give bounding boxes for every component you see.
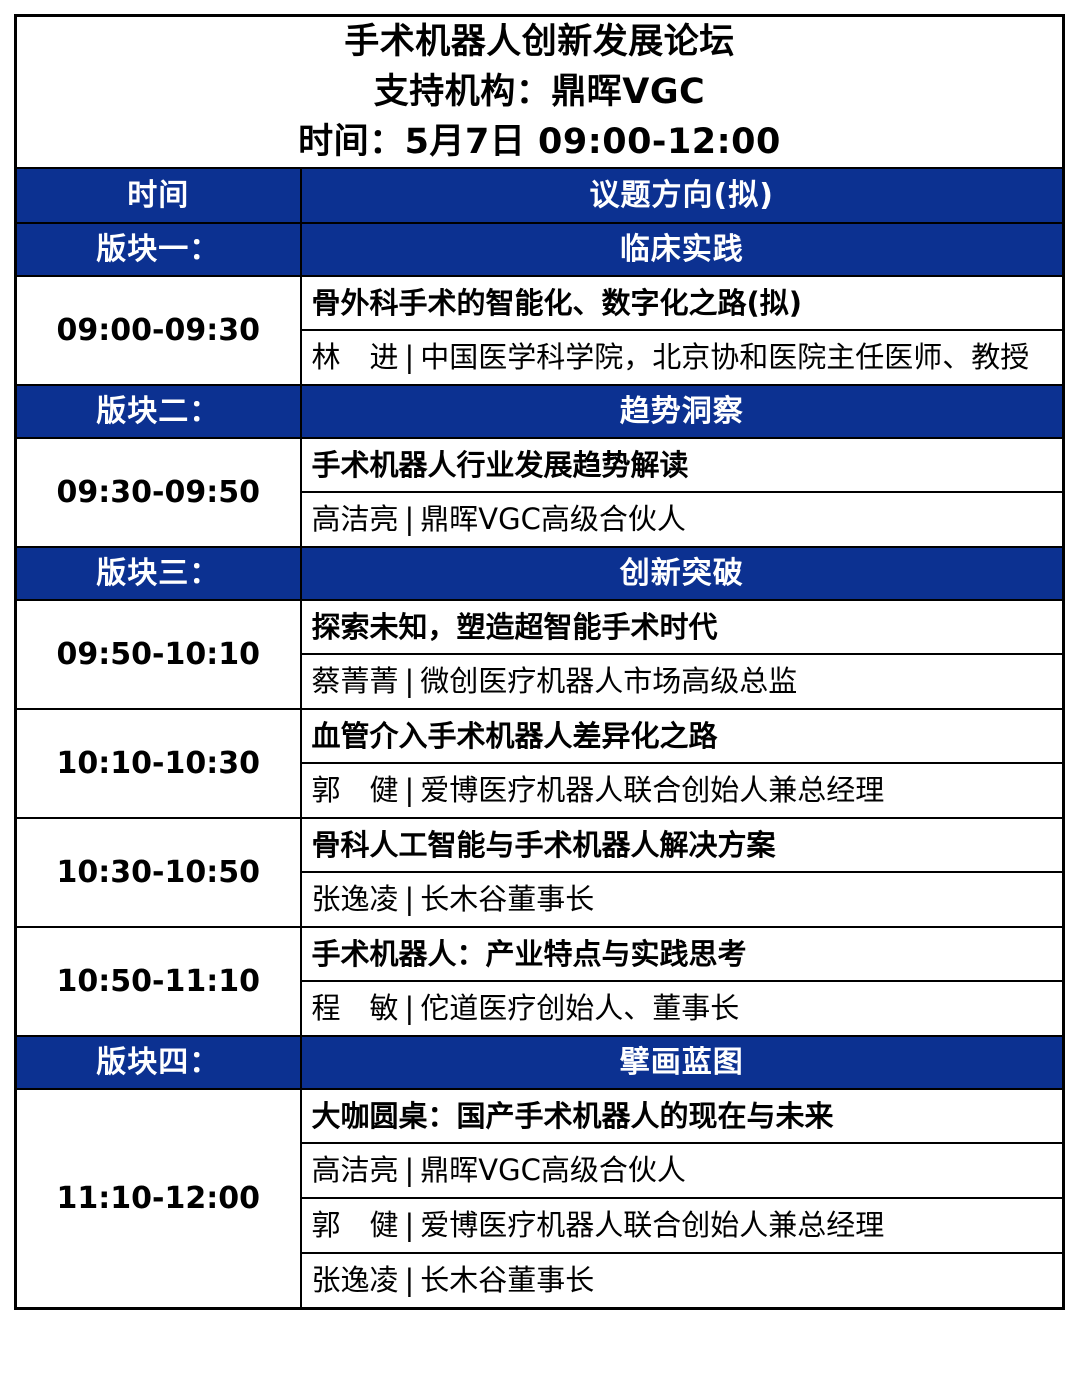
session-title: 大咖圆桌：国产手术机器人的现在与未来 <box>302 1090 1063 1144</box>
session-time: 09:50-10:10 <box>16 600 301 709</box>
speaker-name: 高洁亮 <box>312 502 399 536</box>
speaker-separator: | <box>399 664 421 698</box>
agenda-table-body: 手术机器人创新发展论坛 支持机构：鼎晖VGC 时间：5月7日 09:00-12:… <box>16 16 1064 1309</box>
section-header-row: 版块三：创新突破 <box>16 547 1064 600</box>
speaker-affiliation: 鼎晖VGC高级合伙人 <box>420 1153 686 1187</box>
session-time: 10:30-10:50 <box>16 818 301 927</box>
column-header-topic: 议题方向(拟) <box>301 168 1064 223</box>
speaker-separator: | <box>399 1263 421 1297</box>
speaker-line: 张逸凌|长木谷董事长 <box>302 1254 1063 1307</box>
session-title: 手术机器人：产业特点与实践思考 <box>302 928 1063 982</box>
session-topic-stack: 骨外科手术的智能化、数字化之路(拟)林 进|中国医学科学院，北京协和医院主任医师… <box>302 277 1063 384</box>
section-name: 创新突破 <box>301 547 1064 600</box>
forum-title-block: 手术机器人创新发展论坛 支持机构：鼎晖VGC 时间：5月7日 09:00-12:… <box>16 16 1064 169</box>
speaker-affiliation: 中国医学科学院，北京协和医院主任医师、教授 <box>420 340 1029 374</box>
agenda-row: 11:10-12:00大咖圆桌：国产手术机器人的现在与未来高洁亮|鼎晖VGC高级… <box>16 1089 1064 1308</box>
speaker-line: 郭 健|爱博医疗机器人联合创始人兼总经理 <box>302 1199 1063 1254</box>
agenda-row: 09:30-09:50手术机器人行业发展趋势解读高洁亮|鼎晖VGC高级合伙人 <box>16 438 1064 547</box>
speaker-line: 蔡菁菁|微创医疗机器人市场高级总监 <box>302 655 1063 708</box>
session-topic-cell: 骨科人工智能与手术机器人解决方案张逸凌|长木谷董事长 <box>301 818 1064 927</box>
session-topic-cell: 手术机器人：产业特点与实践思考程 敏|佗道医疗创始人、董事长 <box>301 927 1064 1036</box>
session-time: 11:10-12:00 <box>16 1089 301 1308</box>
column-header-row: 时间 议题方向(拟) <box>16 168 1064 223</box>
session-topic-stack: 骨科人工智能与手术机器人解决方案张逸凌|长木谷董事长 <box>302 819 1063 926</box>
speaker-line: 林 进|中国医学科学院，北京协和医院主任医师、教授 <box>302 331 1063 384</box>
agenda-row: 09:50-10:10探索未知，塑造超智能手术时代蔡菁菁|微创医疗机器人市场高级… <box>16 600 1064 709</box>
speaker-name: 郭 健 <box>312 1208 399 1242</box>
speaker-name: 张逸凌 <box>312 1263 399 1297</box>
speaker-separator: | <box>399 773 421 807</box>
section-label: 版块四： <box>16 1036 301 1089</box>
session-title: 血管介入手术机器人差异化之路 <box>302 710 1063 764</box>
session-topic-stack: 探索未知，塑造超智能手术时代蔡菁菁|微创医疗机器人市场高级总监 <box>302 601 1063 708</box>
forum-title-line-2: 支持机构：鼎晖VGC <box>17 67 1062 117</box>
session-topic-cell: 大咖圆桌：国产手术机器人的现在与未来高洁亮|鼎晖VGC高级合伙人郭 健|爱博医疗… <box>301 1089 1064 1308</box>
session-topic-cell: 探索未知，塑造超智能手术时代蔡菁菁|微创医疗机器人市场高级总监 <box>301 600 1064 709</box>
section-header-row: 版块二：趋势洞察 <box>16 385 1064 438</box>
forum-title-line-1: 手术机器人创新发展论坛 <box>17 17 1062 67</box>
agenda-row: 09:00-09:30骨外科手术的智能化、数字化之路(拟)林 进|中国医学科学院… <box>16 276 1064 385</box>
speaker-separator: | <box>399 882 421 916</box>
session-topic-stack: 大咖圆桌：国产手术机器人的现在与未来高洁亮|鼎晖VGC高级合伙人郭 健|爱博医疗… <box>302 1090 1063 1307</box>
speaker-affiliation: 鼎晖VGC高级合伙人 <box>420 502 686 536</box>
session-topic-cell: 血管介入手术机器人差异化之路郭 健|爱博医疗机器人联合创始人兼总经理 <box>301 709 1064 818</box>
agenda-row: 10:10-10:30血管介入手术机器人差异化之路郭 健|爱博医疗机器人联合创始… <box>16 709 1064 818</box>
column-header-time: 时间 <box>16 168 301 223</box>
agenda-table: 手术机器人创新发展论坛 支持机构：鼎晖VGC 时间：5月7日 09:00-12:… <box>14 14 1065 1310</box>
session-topic-stack: 手术机器人：产业特点与实践思考程 敏|佗道医疗创始人、董事长 <box>302 928 1063 1035</box>
speaker-line: 高洁亮|鼎晖VGC高级合伙人 <box>302 1144 1063 1199</box>
speaker-line: 郭 健|爱博医疗机器人联合创始人兼总经理 <box>302 764 1063 817</box>
speaker-affiliation: 爱博医疗机器人联合创始人兼总经理 <box>420 1208 884 1242</box>
section-label: 版块一： <box>16 223 301 276</box>
session-time: 10:10-10:30 <box>16 709 301 818</box>
speaker-affiliation: 微创医疗机器人市场高级总监 <box>420 664 797 698</box>
speaker-name: 张逸凌 <box>312 882 399 916</box>
session-topic-cell: 手术机器人行业发展趋势解读高洁亮|鼎晖VGC高级合伙人 <box>301 438 1064 547</box>
title-row: 手术机器人创新发展论坛 支持机构：鼎晖VGC 时间：5月7日 09:00-12:… <box>16 16 1064 169</box>
speaker-name: 蔡菁菁 <box>312 664 399 698</box>
section-label: 版块二： <box>16 385 301 438</box>
speaker-separator: | <box>399 340 421 374</box>
speaker-name: 程 敏 <box>312 991 399 1025</box>
speaker-name: 高洁亮 <box>312 1153 399 1187</box>
speaker-line: 张逸凌|长木谷董事长 <box>302 873 1063 926</box>
session-time: 10:50-11:10 <box>16 927 301 1036</box>
speaker-affiliation: 长木谷董事长 <box>420 882 594 916</box>
session-time: 09:00-09:30 <box>16 276 301 385</box>
session-topic-stack: 手术机器人行业发展趋势解读高洁亮|鼎晖VGC高级合伙人 <box>302 439 1063 546</box>
session-time: 09:30-09:50 <box>16 438 301 547</box>
section-name: 擘画蓝图 <box>301 1036 1064 1089</box>
agenda-row: 10:50-11:10手术机器人：产业特点与实践思考程 敏|佗道医疗创始人、董事… <box>16 927 1064 1036</box>
speaker-separator: | <box>399 1153 421 1187</box>
agenda-page: 手术机器人创新发展论坛 支持机构：鼎晖VGC 时间：5月7日 09:00-12:… <box>0 0 1076 1398</box>
speaker-separator: | <box>399 1208 421 1242</box>
forum-title-line-3: 时间：5月7日 09:00-12:00 <box>17 117 1062 167</box>
speaker-separator: | <box>399 502 421 536</box>
section-header-row: 版块一：临床实践 <box>16 223 1064 276</box>
agenda-row: 10:30-10:50骨科人工智能与手术机器人解决方案张逸凌|长木谷董事长 <box>16 818 1064 927</box>
speaker-affiliation: 佗道医疗创始人、董事长 <box>420 991 739 1025</box>
session-topic-stack: 血管介入手术机器人差异化之路郭 健|爱博医疗机器人联合创始人兼总经理 <box>302 710 1063 817</box>
session-title: 手术机器人行业发展趋势解读 <box>302 439 1063 493</box>
section-header-row: 版块四：擘画蓝图 <box>16 1036 1064 1089</box>
speaker-name: 林 进 <box>312 340 399 374</box>
speaker-line: 高洁亮|鼎晖VGC高级合伙人 <box>302 493 1063 546</box>
speaker-affiliation: 爱博医疗机器人联合创始人兼总经理 <box>420 773 884 807</box>
session-title: 探索未知，塑造超智能手术时代 <box>302 601 1063 655</box>
speaker-affiliation: 长木谷董事长 <box>420 1263 594 1297</box>
speaker-line: 程 敏|佗道医疗创始人、董事长 <box>302 982 1063 1035</box>
session-topic-cell: 骨外科手术的智能化、数字化之路(拟)林 进|中国医学科学院，北京协和医院主任医师… <box>301 276 1064 385</box>
session-title: 骨外科手术的智能化、数字化之路(拟) <box>302 277 1063 331</box>
section-name: 临床实践 <box>301 223 1064 276</box>
section-name: 趋势洞察 <box>301 385 1064 438</box>
session-title: 骨科人工智能与手术机器人解决方案 <box>302 819 1063 873</box>
speaker-name: 郭 健 <box>312 773 399 807</box>
section-label: 版块三： <box>16 547 301 600</box>
speaker-separator: | <box>399 991 421 1025</box>
